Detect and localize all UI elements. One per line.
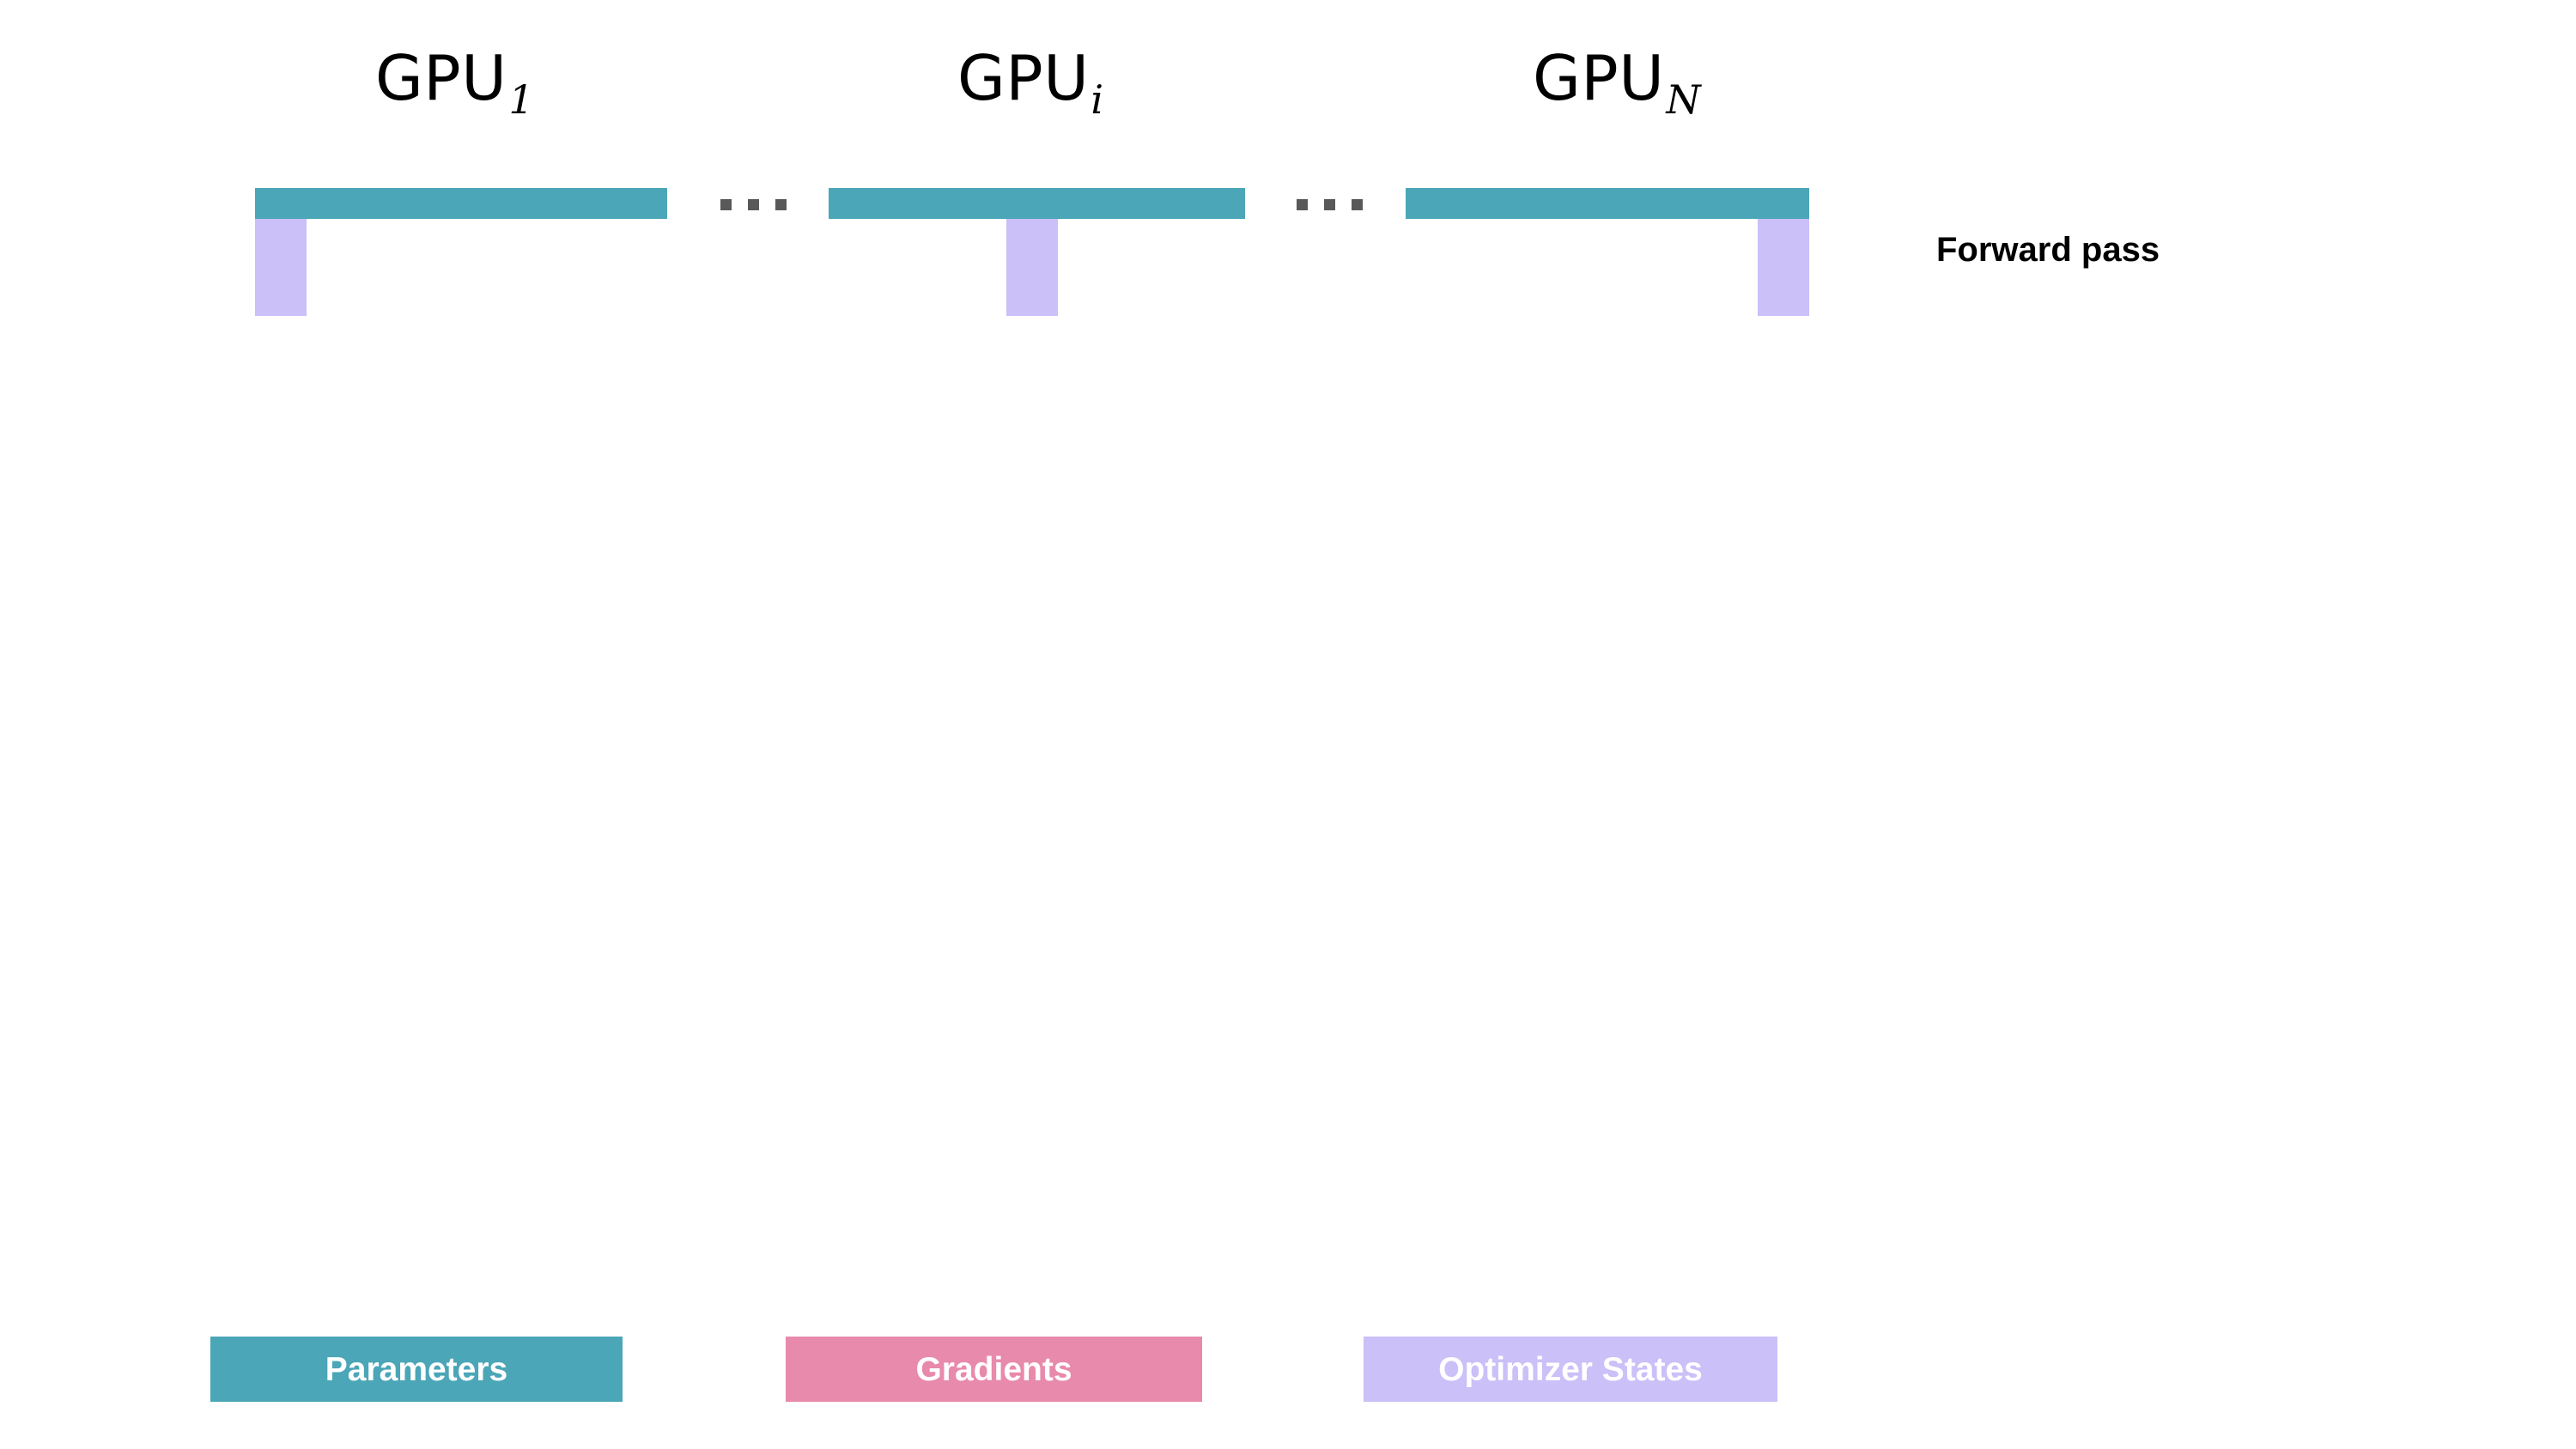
legend-label-gradients: Gradients bbox=[915, 1353, 1072, 1386]
legend: Parameters Gradients Optimizer States bbox=[210, 1337, 1782, 1402]
gpu-label-1: GPU1 bbox=[375, 47, 532, 109]
ellipsis-dot bbox=[720, 199, 732, 210]
ellipsis-separator-1 bbox=[720, 199, 787, 210]
gpu-label-n: GPUN bbox=[1533, 47, 1699, 109]
legend-label-parameters: Parameters bbox=[325, 1353, 507, 1386]
optimizer-states-block-gpu-n bbox=[1758, 219, 1809, 316]
stage-label-forward-pass: Forward pass bbox=[1936, 233, 2160, 267]
legend-label-optimizer-states: Optimizer States bbox=[1438, 1353, 1703, 1386]
ellipsis-dot bbox=[1324, 199, 1335, 210]
gpu-label-1-subscript: 1 bbox=[508, 76, 533, 123]
gpu-label-n-name: GPU bbox=[1533, 42, 1664, 114]
parameters-bar-gpu-n bbox=[1406, 188, 1809, 219]
ellipsis-separator-2 bbox=[1297, 199, 1363, 210]
gpu-label-i-name: GPU bbox=[957, 42, 1089, 114]
parameters-bar-gpu-i bbox=[829, 188, 1245, 219]
ellipsis-dot bbox=[1352, 199, 1363, 210]
gpu-label-n-subscript: N bbox=[1666, 76, 1700, 123]
gpu-label-i-subscript: i bbox=[1091, 76, 1103, 123]
legend-item-gradients: Gradients bbox=[786, 1337, 1202, 1402]
ellipsis-dot bbox=[1297, 199, 1308, 210]
optimizer-states-block-gpu-i bbox=[1006, 219, 1058, 316]
ellipsis-dot bbox=[748, 199, 759, 210]
diagram-canvas: GPU1 GPUi GPUN Forward pass Parameters bbox=[0, 0, 2576, 1449]
optimizer-states-block-gpu-1 bbox=[255, 219, 307, 316]
parameters-bar-gpu-1 bbox=[255, 188, 667, 219]
gpu-label-1-name: GPU bbox=[375, 42, 507, 114]
gpu-label-i: GPUi bbox=[957, 47, 1102, 109]
legend-item-parameters: Parameters bbox=[210, 1337, 623, 1402]
legend-item-optimizer-states: Optimizer States bbox=[1364, 1337, 1777, 1402]
ellipsis-dot bbox=[775, 199, 787, 210]
